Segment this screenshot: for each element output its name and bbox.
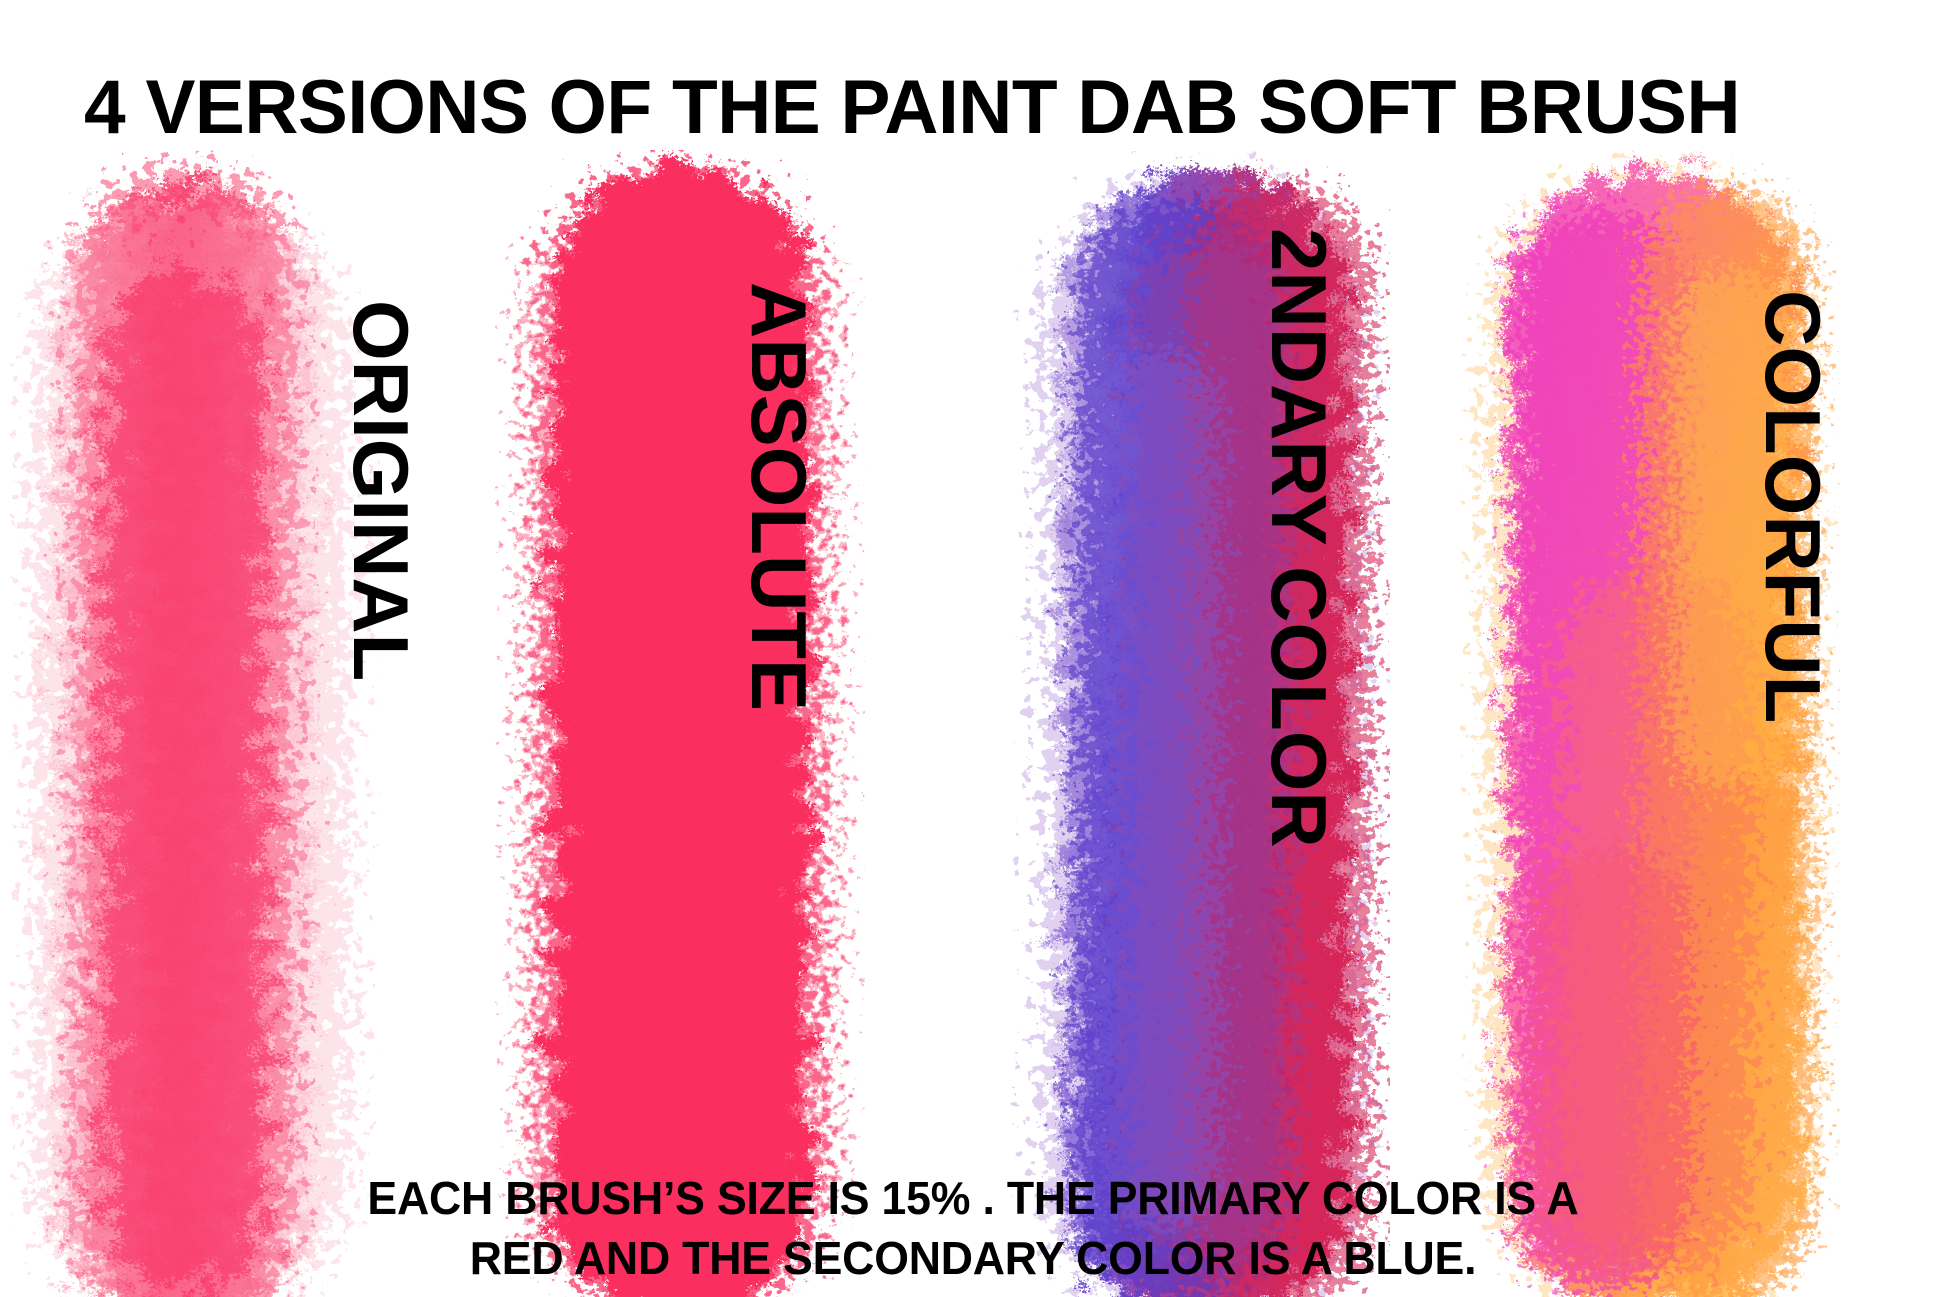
brush-stroke-original <box>10 150 380 1297</box>
stroke-label-colorful: COLORFUL <box>1754 290 1832 723</box>
page-title: 4 VERSIONS OF THE PAINT DAB SOFT BRUSH <box>84 66 1857 150</box>
stroke-label-original: ORIGINAL <box>342 300 420 681</box>
stroke-label-absolute: ABSOLUTE <box>740 282 818 711</box>
caption-line-1: EACH BRUSH’S SIZE IS 15% . THE PRIMARY C… <box>29 1168 1917 1228</box>
caption-line-2: RED AND THE SECONDARY COLOR IS A BLUE. <box>29 1228 1917 1288</box>
poster-canvas: 4 VERSIONS OF THE PAINT DAB SOFT BRUSH O… <box>0 0 1946 1297</box>
stroke-label-secondary: 2NDARY COLOR <box>1260 228 1338 848</box>
caption-block: EACH BRUSH’S SIZE IS 15% . THE PRIMARY C… <box>0 1168 1946 1288</box>
